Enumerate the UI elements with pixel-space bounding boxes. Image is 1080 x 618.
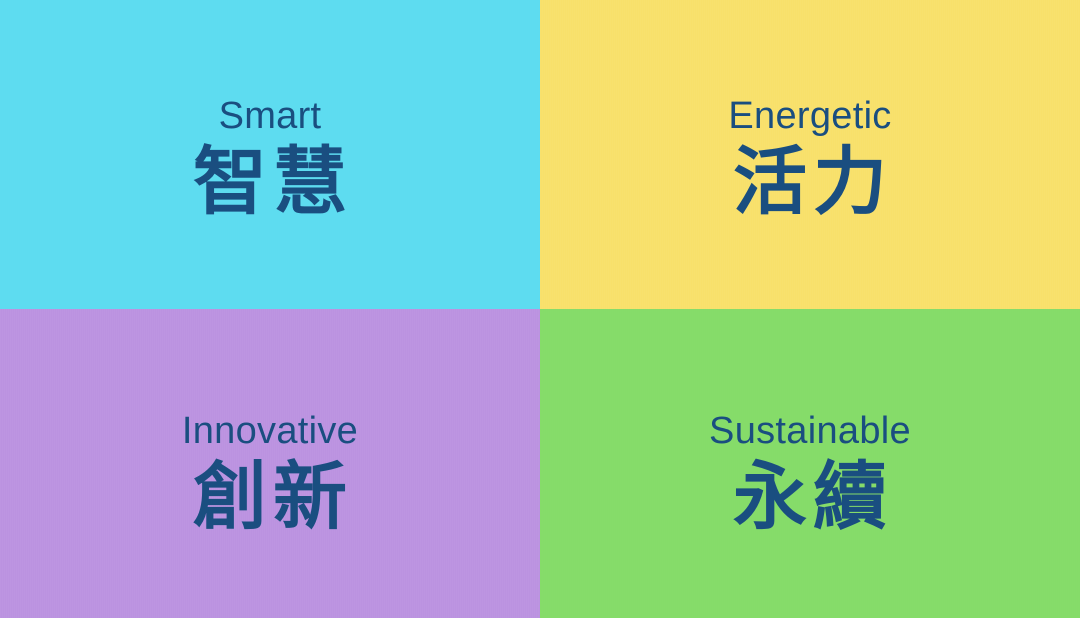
quadrant-energetic-label-en: Energetic [728, 97, 891, 135]
brand-values-board: Smart 智慧 Energetic 活力 Innovative 創新 Sust… [0, 0, 1080, 618]
label-stack-smart: Smart 智慧 [0, 97, 540, 221]
quadrant-innovative-label-en: Innovative [182, 412, 358, 450]
quadrant-smart-label-cjk: 智慧 [187, 143, 353, 221]
label-stack-energetic: Energetic 活力 [540, 97, 1080, 221]
quadrant-sustainable-label-en: Sustainable [709, 412, 911, 450]
label-stack-sustainable: Sustainable 永續 [540, 412, 1080, 536]
quadrant-innovative[interactable]: Innovative 創新 [0, 309, 540, 618]
quadrant-energetic[interactable]: Energetic 活力 [540, 0, 1080, 309]
quadrant-smart-label-en: Smart [219, 97, 322, 135]
quadrant-sustainable-label-cjk: 永續 [727, 458, 893, 536]
label-stack-innovative: Innovative 創新 [0, 412, 540, 536]
quadrant-innovative-label-cjk: 創新 [187, 458, 353, 536]
quadrant-energetic-label-cjk: 活力 [727, 143, 893, 221]
quadrant-smart[interactable]: Smart 智慧 [0, 0, 540, 309]
quadrant-grid: Smart 智慧 Energetic 活力 Innovative 創新 Sust… [0, 0, 1080, 618]
quadrant-sustainable[interactable]: Sustainable 永續 [540, 309, 1080, 618]
